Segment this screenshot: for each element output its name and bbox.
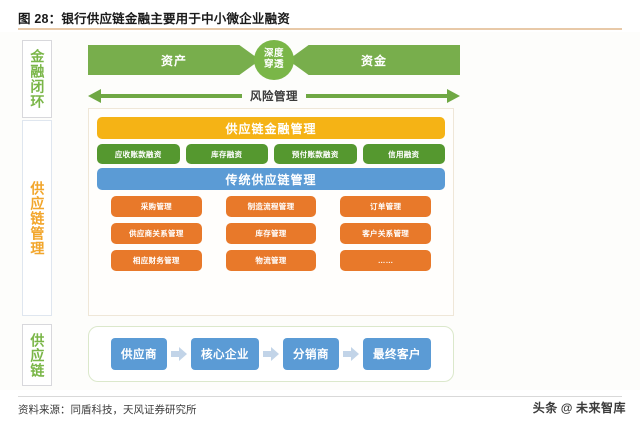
chip-scf-2: 预付账款融资 bbox=[274, 144, 357, 164]
arrow-3-head bbox=[351, 347, 359, 361]
chevron-assets: 资产 bbox=[88, 45, 260, 75]
chip-tscm-4: 库存管理 bbox=[226, 223, 317, 244]
supply-chain-management-panel: 供应链金融管理 应收账款融资 库存融资 预付账款融资 信用融资 传统供应链管理 … bbox=[88, 108, 454, 316]
page-title: 图 28：银行供应链金融主要用于中小微企业融资 bbox=[18, 8, 290, 27]
arrow-left-icon bbox=[88, 89, 242, 103]
arrow-right-icon bbox=[306, 89, 460, 103]
bar-supply-chain-finance: 供应链金融管理 bbox=[97, 117, 445, 139]
arrow-left-shaft bbox=[100, 94, 242, 98]
chip-tscm-4-label: 库存管理 bbox=[255, 228, 286, 239]
arrow-right-icon-1 bbox=[171, 347, 187, 361]
side-label-supply-chain-management: 供应链管理 bbox=[22, 120, 52, 316]
node-supplier: 供应商 bbox=[111, 338, 167, 370]
chevron-funds-label: 资金 bbox=[361, 52, 387, 69]
chip-scf-1: 库存融资 bbox=[186, 144, 269, 164]
chip-scf-3: 信用融资 bbox=[363, 144, 446, 164]
watermark-left-text: 头条 bbox=[533, 399, 558, 416]
chip-scf-3-label: 信用融资 bbox=[388, 149, 419, 160]
chip-scf-0: 应收账款融资 bbox=[97, 144, 180, 164]
bar-traditional-supply-chain-management-label: 传统供应链管理 bbox=[225, 171, 316, 188]
chip-scf-2-label: 预付账款融资 bbox=[292, 149, 339, 160]
figure-diagram: 金融闭环 供应链管理 供应链 资产 资金 深度 穿透 风险管理 bbox=[0, 32, 640, 390]
chip-tscm-5: 客户关系管理 bbox=[340, 223, 431, 244]
node-end-customer-label: 最终客户 bbox=[373, 346, 421, 362]
arrow-right-icon-2 bbox=[263, 347, 279, 361]
watermark-right-text: 未来智库 bbox=[576, 399, 626, 416]
chip-tscm-5-label: 客户关系管理 bbox=[362, 228, 409, 239]
side-label-finance-loop: 金融闭环 bbox=[22, 40, 52, 118]
finance-loop-flow: 资产 资金 深度 穿透 bbox=[88, 40, 460, 80]
source-note: 资料来源：同盾科技，天风证券研究所 bbox=[18, 402, 197, 417]
chip-tscm-7: 物流管理 bbox=[226, 250, 317, 271]
risk-management-arrow-row: 风险管理 bbox=[88, 86, 460, 106]
deep-penetration-line2: 穿透 bbox=[264, 60, 284, 71]
chip-tscm-2-label: 订单管理 bbox=[370, 201, 401, 212]
arrow-2-shaft bbox=[263, 351, 271, 357]
chip-scf-0-label: 应收账款融资 bbox=[115, 149, 162, 160]
bar-traditional-supply-chain-management: 传统供应链管理 bbox=[97, 168, 445, 190]
chip-tscm-3: 供应商关系管理 bbox=[111, 223, 202, 244]
node-distributor: 分销商 bbox=[283, 338, 339, 370]
chip-tscm-8-label: …… bbox=[378, 256, 394, 265]
node-supplier-label: 供应商 bbox=[121, 346, 157, 362]
risk-management-label: 风险管理 bbox=[242, 88, 306, 104]
chip-tscm-6-label: 相应财务管理 bbox=[133, 255, 180, 266]
arrow-3-shaft bbox=[343, 351, 351, 357]
side-label-supply-chain-management-text: 供应链管理 bbox=[30, 181, 45, 256]
deep-penetration-circle: 深度 穿透 bbox=[254, 40, 294, 80]
footer-divider bbox=[18, 396, 622, 397]
chevron-funds: 资金 bbox=[288, 45, 460, 75]
at-symbol-icon: @ bbox=[561, 401, 573, 415]
chip-tscm-2: 订单管理 bbox=[340, 196, 431, 217]
chip-tscm-6: 相应财务管理 bbox=[111, 250, 202, 271]
node-end-customer: 最终客户 bbox=[363, 338, 431, 370]
chip-tscm-0-label: 采购管理 bbox=[141, 201, 172, 212]
chip-tscm-1: 制造流程管理 bbox=[226, 196, 317, 217]
chip-scf-1-label: 库存融资 bbox=[211, 149, 242, 160]
supply-chain-finance-chip-row: 应收账款融资 库存融资 预付账款融资 信用融资 bbox=[97, 144, 445, 164]
arrow-right-head bbox=[447, 89, 460, 103]
chip-tscm-0: 采购管理 bbox=[111, 196, 202, 217]
arrow-right-shaft bbox=[306, 94, 448, 98]
node-core-enterprise: 核心企业 bbox=[191, 338, 259, 370]
chip-tscm-1-label: 制造流程管理 bbox=[248, 201, 295, 212]
chip-tscm-7-label: 物流管理 bbox=[255, 255, 286, 266]
arrow-right-icon-3 bbox=[343, 347, 359, 361]
arrow-2-head bbox=[271, 347, 279, 361]
traditional-scm-chip-grid: 采购管理 制造流程管理 订单管理 供应商关系管理 库存管理 客户关系管理 相应财… bbox=[97, 196, 445, 271]
arrow-1-head bbox=[179, 347, 187, 361]
side-label-finance-loop-text: 金融闭环 bbox=[30, 49, 45, 109]
chip-tscm-8: …… bbox=[340, 250, 431, 271]
watermark: 头条 @ 未来智库 bbox=[533, 399, 626, 416]
title-divider bbox=[18, 28, 622, 30]
node-distributor-label: 分销商 bbox=[293, 346, 329, 362]
supply-chain-flow-panel: 供应商 核心企业 分销商 最终客户 bbox=[88, 326, 454, 382]
bar-supply-chain-finance-label: 供应链金融管理 bbox=[225, 120, 316, 137]
side-label-supply-chain: 供应链 bbox=[22, 324, 52, 386]
chevron-assets-label: 资产 bbox=[161, 52, 187, 69]
side-label-supply-chain-text: 供应链 bbox=[30, 333, 45, 378]
node-core-enterprise-label: 核心企业 bbox=[201, 346, 249, 362]
arrow-1-shaft bbox=[171, 351, 179, 357]
chip-tscm-3-label: 供应商关系管理 bbox=[129, 228, 184, 239]
